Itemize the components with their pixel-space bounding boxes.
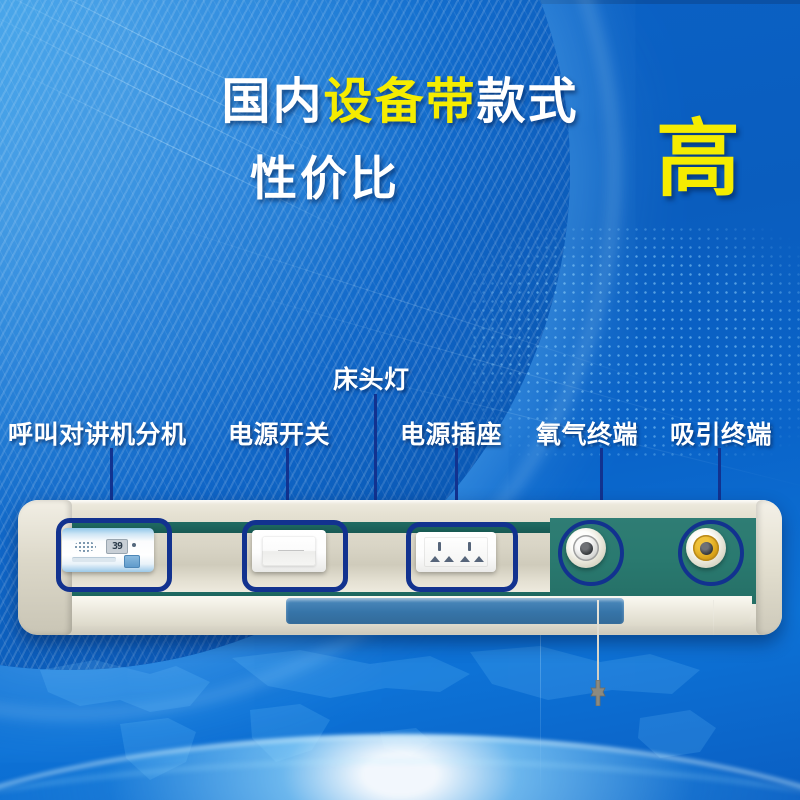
world-map-silhouette: [0, 640, 800, 800]
callout-label-nurse-call: 呼叫对讲机分机: [8, 415, 187, 451]
pull-cord-secondary: [713, 600, 714, 636]
vertical-light-line: [540, 620, 541, 800]
highlight-power-switch: [242, 520, 348, 592]
panel-guard-rail: [286, 598, 624, 624]
callout-label-bed-lamp: 床头灯: [333, 360, 410, 396]
horizon-light-arc: [0, 735, 800, 800]
top-strip: [0, 0, 800, 4]
callout-label-power-switch: 电源开关: [228, 415, 330, 451]
highlight-oxygen-terminal: [558, 520, 624, 586]
callout-label-oxygen-terminal: 氧气终端: [536, 415, 638, 451]
highlight-nurse-call: [56, 518, 172, 592]
callout-label-power-socket: 电源插座: [400, 415, 502, 451]
headline-part-domestic: 国内: [221, 75, 323, 129]
horizon-glow: [0, 735, 800, 800]
horizon-light-arc-secondary: [0, 760, 800, 800]
highlight-suction-terminal: [678, 520, 744, 586]
callout-label-suction-terminal: 吸引终端: [670, 415, 772, 451]
pull-cord[interactable]: [597, 600, 599, 686]
headline-part-style: 款式: [477, 75, 579, 129]
promo-banner: 国内设备带款式 性价比 高 呼叫对讲机分机 电源开关 床头灯 电源插座 氧气终端…: [0, 0, 800, 800]
headline-block: 国内设备带款式 性价比 高: [0, 78, 800, 233]
pull-cord-weight-icon[interactable]: [588, 680, 608, 706]
headline-part-equipment: 设备带: [323, 75, 476, 129]
headline-emphasis-high: 高: [656, 117, 740, 201]
highlight-power-socket: [406, 522, 518, 592]
panel-end-cap-right: [756, 500, 782, 635]
